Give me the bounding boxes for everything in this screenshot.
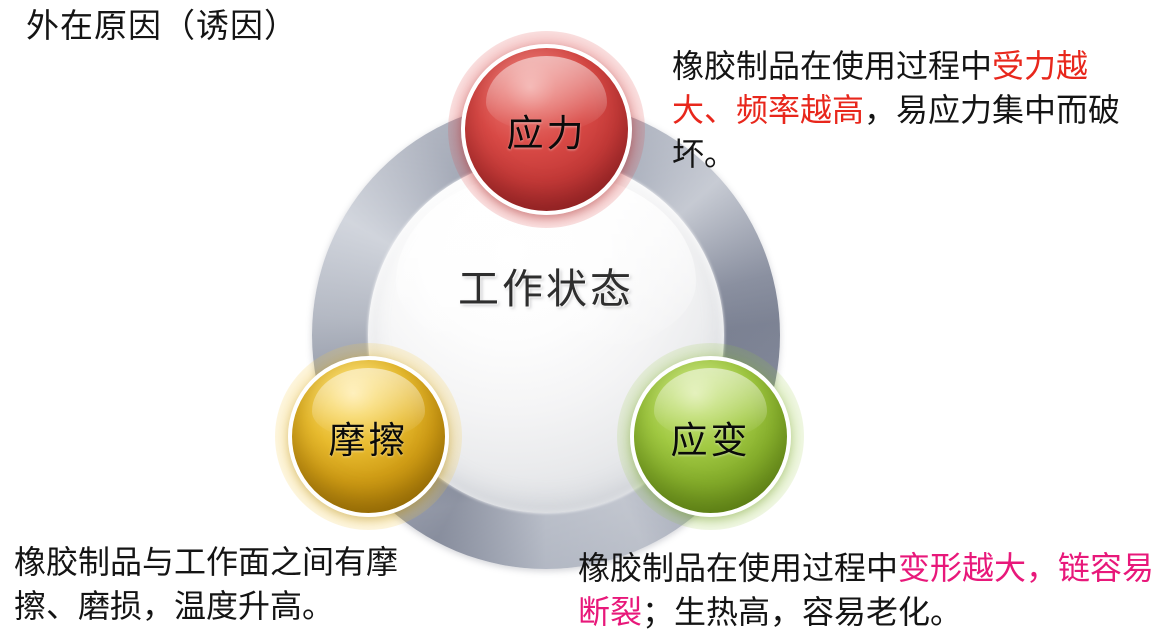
diagram-canvas: 外在原因（诱因） 工作状态 应力 摩擦 应变 橡胶制品在使用过程中受力越大、频率… bbox=[0, 0, 1169, 640]
caption-strain-highlight-1: 变形越大， bbox=[898, 550, 1058, 586]
caption-strain-text-1: 橡胶制品在使用过程中 bbox=[578, 550, 898, 586]
node-strain[interactable]: 应变 bbox=[630, 356, 791, 517]
node-friction[interactable]: 摩擦 bbox=[288, 356, 449, 517]
hub-center-label: 工作状态 bbox=[312, 255, 780, 315]
caption-stress-text-1: 橡胶制品在使用过程中 bbox=[672, 48, 992, 84]
caption-friction-text-1: 橡胶制品与工作面之间有 bbox=[14, 544, 366, 580]
page-title: 外在原因（诱因） bbox=[26, 8, 298, 48]
node-friction-label: 摩擦 bbox=[329, 410, 409, 464]
caption-stress-highlight-1: 受 bbox=[992, 48, 1024, 84]
caption-stress: 橡胶制品在使用过程中受力越大、频率越高，易应力集中而破坏。 bbox=[672, 44, 1142, 176]
node-strain-label: 应变 bbox=[671, 410, 751, 464]
caption-strain-text-2: ；生热高，容易老化。 bbox=[642, 594, 962, 630]
node-stress[interactable]: 应力 bbox=[461, 44, 632, 215]
caption-strain: 橡胶制品在使用过程中变形越大，链容易断裂；生热高，容易老化。 bbox=[578, 546, 1166, 634]
caption-friction: 橡胶制品与工作面之间有摩擦、磨损，温度升高。 bbox=[14, 540, 454, 628]
node-stress-label: 应力 bbox=[507, 103, 587, 157]
caption-stress-text-2: ，易应 bbox=[864, 92, 960, 128]
